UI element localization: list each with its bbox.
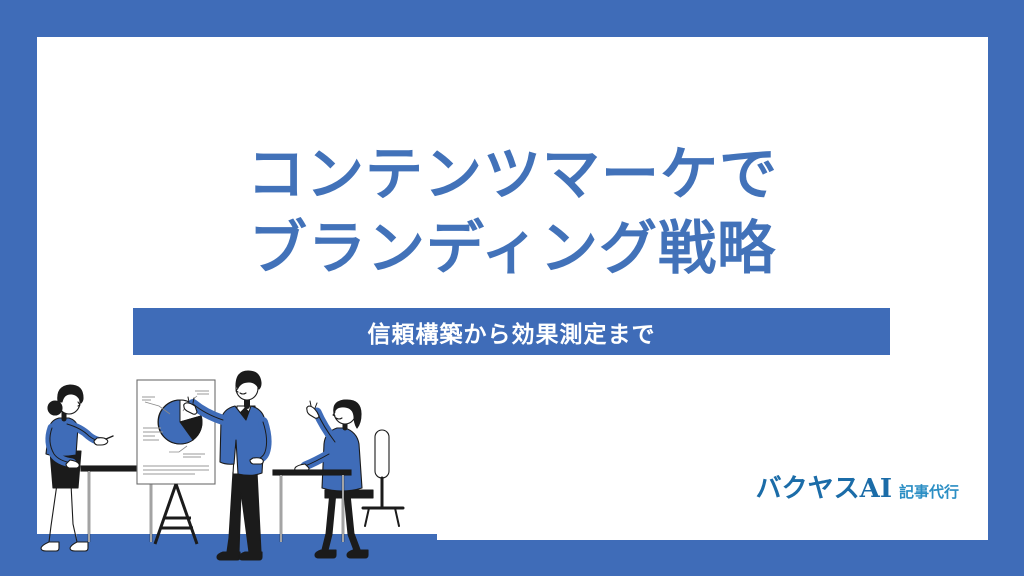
page-title: コンテンツマーケで ブランディング戦略 [37,137,988,285]
subtitle-bar: 信頼構築から効果測定まで [133,308,890,355]
title-line-1: コンテンツマーケで [37,137,988,211]
title-line-2: ブランディング戦略 [37,211,988,285]
subtitle-text: 信頼構築から効果測定まで [368,315,656,349]
flipchart-easel [137,380,215,544]
logo-sub-text: 記事代行 [899,481,959,502]
logo-main-text: バクヤスAI [756,468,892,505]
slide-root: コンテンツマーケで ブランディング戦略 信頼構築から効果測定まで バクヤスAI … [0,0,1024,576]
brand-logo: バクヤスAI 記事代行 [756,468,959,505]
illustration-business-team [37,366,437,576]
chair-back [375,430,389,478]
